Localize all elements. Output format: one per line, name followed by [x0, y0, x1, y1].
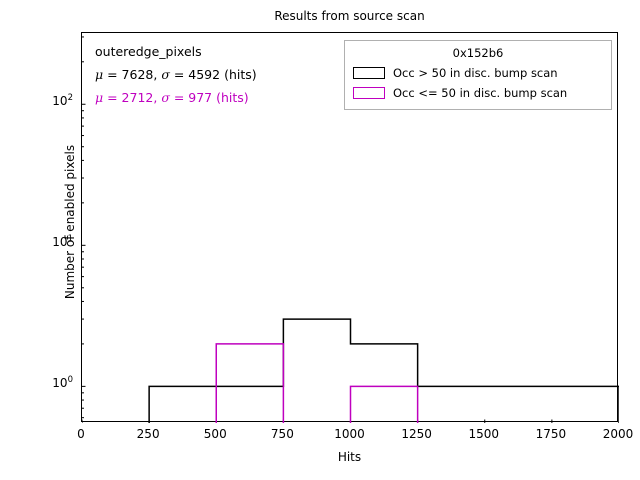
page-title: Results from source scan: [81, 8, 618, 24]
y-tick-label: 100: [13, 376, 73, 390]
annotation-line-black-stats: μ = 7628, σ = 4592 (hits): [95, 63, 257, 86]
mu-value-magenta: = 2712,: [103, 90, 161, 105]
legend-entry-list: Occ > 50 in disc. bump scanOcc <= 50 in …: [353, 63, 603, 103]
mu-symbol-magenta: μ: [95, 90, 103, 105]
mu-value-black: = 7628,: [103, 67, 161, 82]
sigma-symbol-magenta: σ: [161, 90, 170, 105]
annotation-line-name: outeredge_pixels: [95, 40, 257, 63]
legend-swatch-icon: [353, 67, 385, 79]
x-axis-label: Hits: [81, 450, 618, 464]
figure-canvas: Results from source scan 025050075010001…: [0, 0, 640, 480]
annotation-line-magenta-stats: μ = 2712, σ = 977 (hits): [95, 86, 257, 109]
x-tick-label: 1500: [454, 427, 514, 441]
legend-item-label: Occ <= 50 in disc. bump scan: [393, 86, 567, 100]
x-tick-label: 500: [185, 427, 245, 441]
sigma-value-black: = 4592 (hits): [170, 67, 257, 82]
legend-item[interactable]: Occ <= 50 in disc. bump scan: [353, 83, 603, 103]
legend-item-label: Occ > 50 in disc. bump scan: [393, 66, 558, 80]
legend-title: 0x152b6: [353, 46, 603, 63]
legend-swatch-icon: [353, 87, 385, 99]
sigma-value-magenta: = 977 (hits): [170, 90, 249, 105]
x-tick-label: 2000: [588, 427, 640, 441]
x-tick-label: 0: [51, 427, 111, 441]
legend-box[interactable]: 0x152b6 Occ > 50 in disc. bump scanOcc <…: [344, 40, 612, 110]
sigma-symbol-black: σ: [161, 67, 170, 82]
x-tick-label: 1250: [387, 427, 447, 441]
x-tick-label: 750: [252, 427, 312, 441]
series-line-occ-le-50: [216, 344, 417, 423]
series-line-occ-gt-50: [149, 319, 619, 423]
legend-item[interactable]: Occ > 50 in disc. bump scan: [353, 63, 603, 83]
stats-annotation: outeredge_pixels μ = 7628, σ = 4592 (hit…: [95, 40, 257, 109]
y-axis-label: Number of enabled pixels: [63, 72, 77, 372]
mu-symbol-black: μ: [95, 67, 103, 82]
x-tick-label: 1750: [521, 427, 581, 441]
x-tick-label: 1000: [320, 427, 380, 441]
x-tick-label: 250: [118, 427, 178, 441]
